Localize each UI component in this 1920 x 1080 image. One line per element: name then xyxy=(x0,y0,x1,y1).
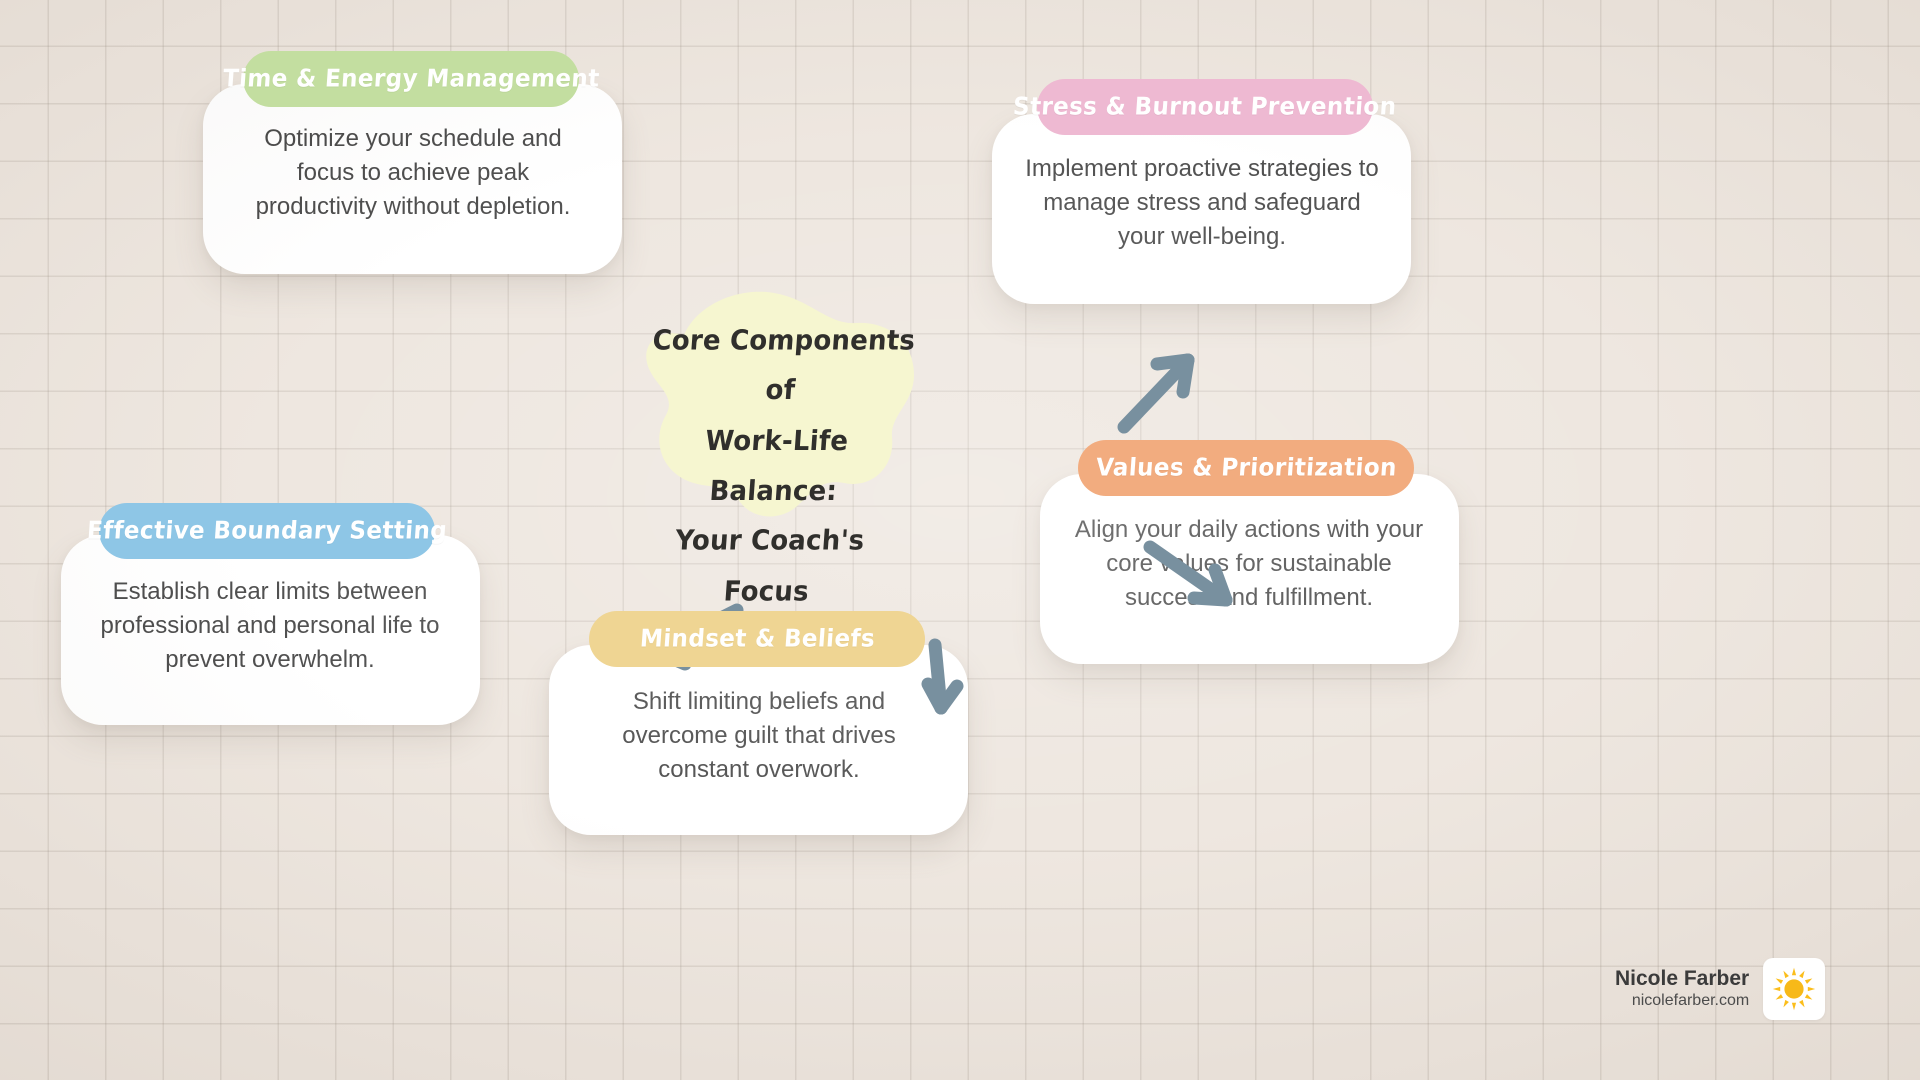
card-header-mindset-beliefs: Mindset & Beliefs xyxy=(589,611,925,667)
brand-website[interactable]: nicolefarber.com xyxy=(1615,991,1749,1011)
card-body-time-energy-management: Optimize your schedule and focus to achi… xyxy=(233,122,593,224)
card-title-time-energy-management: Time & Energy Management xyxy=(222,65,601,93)
card-header-stress-burnout-prevention: Stress & Burnout Prevention xyxy=(1037,79,1373,135)
card-title-stress-burnout-prevention: Stress & Burnout Prevention xyxy=(1012,93,1397,121)
sun-icon xyxy=(1770,965,1818,1013)
brand-logo xyxy=(1763,958,1825,1020)
brand-name: Nicole Farber xyxy=(1615,967,1749,992)
card-header-values-prioritization: Values & Prioritization xyxy=(1078,440,1414,496)
card-body-mindset-beliefs: Shift limiting beliefs and overcome guil… xyxy=(579,685,939,787)
card-body-values-prioritization: Align your daily actions with your core … xyxy=(1069,513,1429,615)
center-title-line-1: Core Components of xyxy=(640,316,925,416)
center-title: Core Components of Work-Life Balance: Yo… xyxy=(625,316,924,617)
center-title-line-2: Work-Life Balance: xyxy=(632,417,917,517)
card-header-time-energy-management: Time & Energy Management xyxy=(243,51,579,107)
center-title-line-3: Your Coach's Focus xyxy=(625,517,910,617)
card-title-values-prioritization: Values & Prioritization xyxy=(1095,454,1398,482)
branding: Nicole Farber nicolefarber.com xyxy=(1615,958,1825,1020)
card-header-effective-boundary-setting: Effective Boundary Setting xyxy=(99,503,435,559)
card-body-effective-boundary-setting: Establish clear limits between professio… xyxy=(90,575,450,677)
card-body-stress-burnout-prevention: Implement proactive strategies to manage… xyxy=(1022,152,1382,254)
brand-text: Nicole Farber nicolefarber.com xyxy=(1615,967,1749,1012)
card-title-effective-boundary-setting: Effective Boundary Setting xyxy=(86,517,448,545)
card-title-mindset-beliefs: Mindset & Beliefs xyxy=(639,625,876,653)
